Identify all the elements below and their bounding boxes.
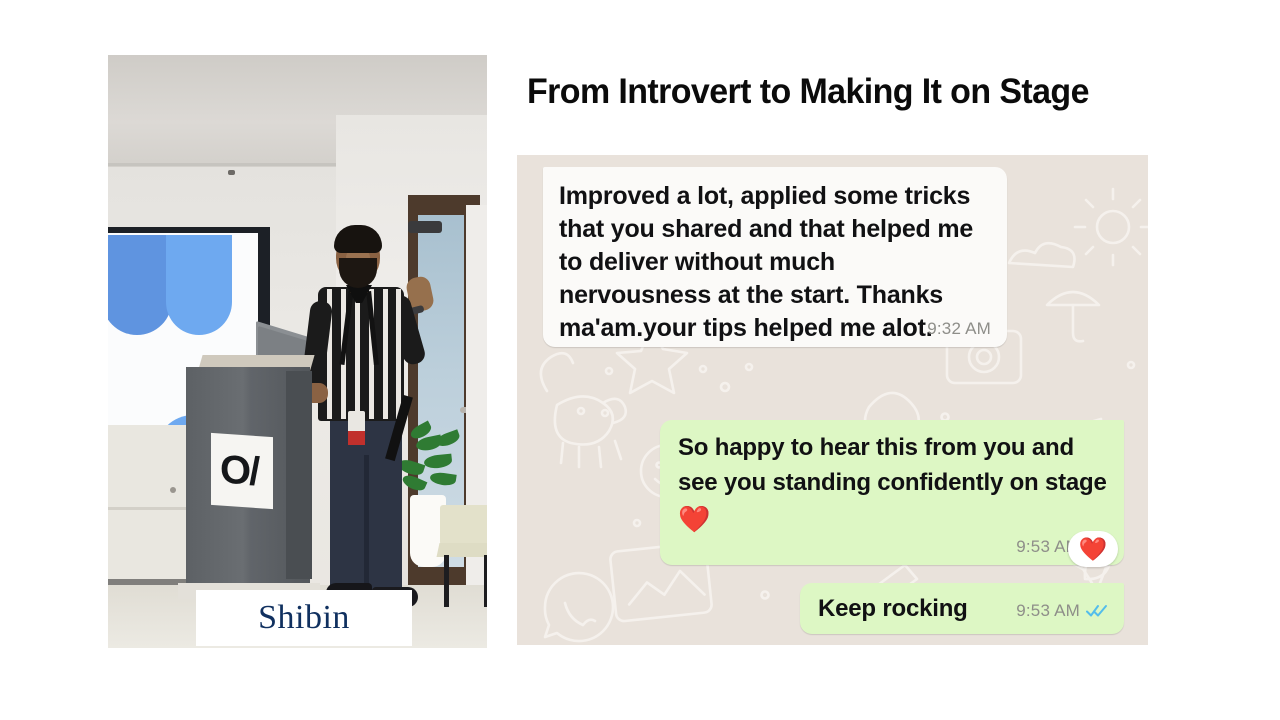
whatsapp-chat-panel: Improved a lot, applied some tricks that…: [517, 155, 1148, 645]
chat-message-outgoing[interactable]: Keep rocking 9:53 AM: [800, 583, 1124, 634]
message-text: Improved a lot, applied some tricks that…: [559, 180, 991, 345]
office-cabinet: [108, 425, 196, 595]
message-timestamp: 9:53 AM: [1016, 601, 1080, 621]
message-text: So happy to hear this from you and see y…: [678, 430, 1108, 535]
cabinet-knob: [170, 487, 176, 493]
heart-reaction-emoji: ❤️: [1079, 538, 1108, 561]
hair: [334, 225, 382, 253]
message-reaction-badge[interactable]: ❤️: [1068, 531, 1118, 567]
shirt-stripe: [383, 289, 388, 419]
chat-message-incoming[interactable]: Improved a lot, applied some tricks that…: [543, 167, 1007, 347]
screen-petal-shape: [166, 235, 232, 335]
chair-leg: [444, 555, 449, 607]
message-text: Keep rocking: [818, 591, 968, 626]
door-closer: [408, 221, 442, 233]
screen-petal-shape: [108, 235, 172, 335]
id-badge-band: [348, 431, 365, 445]
speaker-nameplate: Shibin: [196, 590, 412, 646]
chair-back: [440, 505, 487, 545]
chair-leg: [484, 555, 487, 607]
speaker-name: Shibin: [258, 599, 350, 637]
shirt-stripe: [396, 289, 401, 419]
read-receipt-double-check-icon: [1086, 604, 1108, 618]
podium-side: [286, 371, 312, 579]
heart-emoji: ❤️: [678, 504, 710, 534]
cabinet-seam: [108, 507, 196, 510]
speaker-photo: O/: [108, 55, 487, 648]
message-timestamp: 9:32 AM: [927, 319, 991, 339]
podium-logo: O/: [220, 445, 268, 496]
shirt-stripe: [355, 289, 360, 419]
message-meta: 9:53 AM: [982, 601, 1108, 621]
message-meta: 9:53 AM: [678, 537, 1108, 557]
message-body: So happy to hear this from you and see y…: [678, 434, 1107, 496]
ceiling-sensor-icon: [228, 170, 235, 175]
chat-message-outgoing[interactable]: So happy to hear this from you and see y…: [660, 420, 1124, 565]
page-title: From Introvert to Making It on Stage: [527, 72, 1235, 112]
trouser-seam: [364, 455, 369, 595]
